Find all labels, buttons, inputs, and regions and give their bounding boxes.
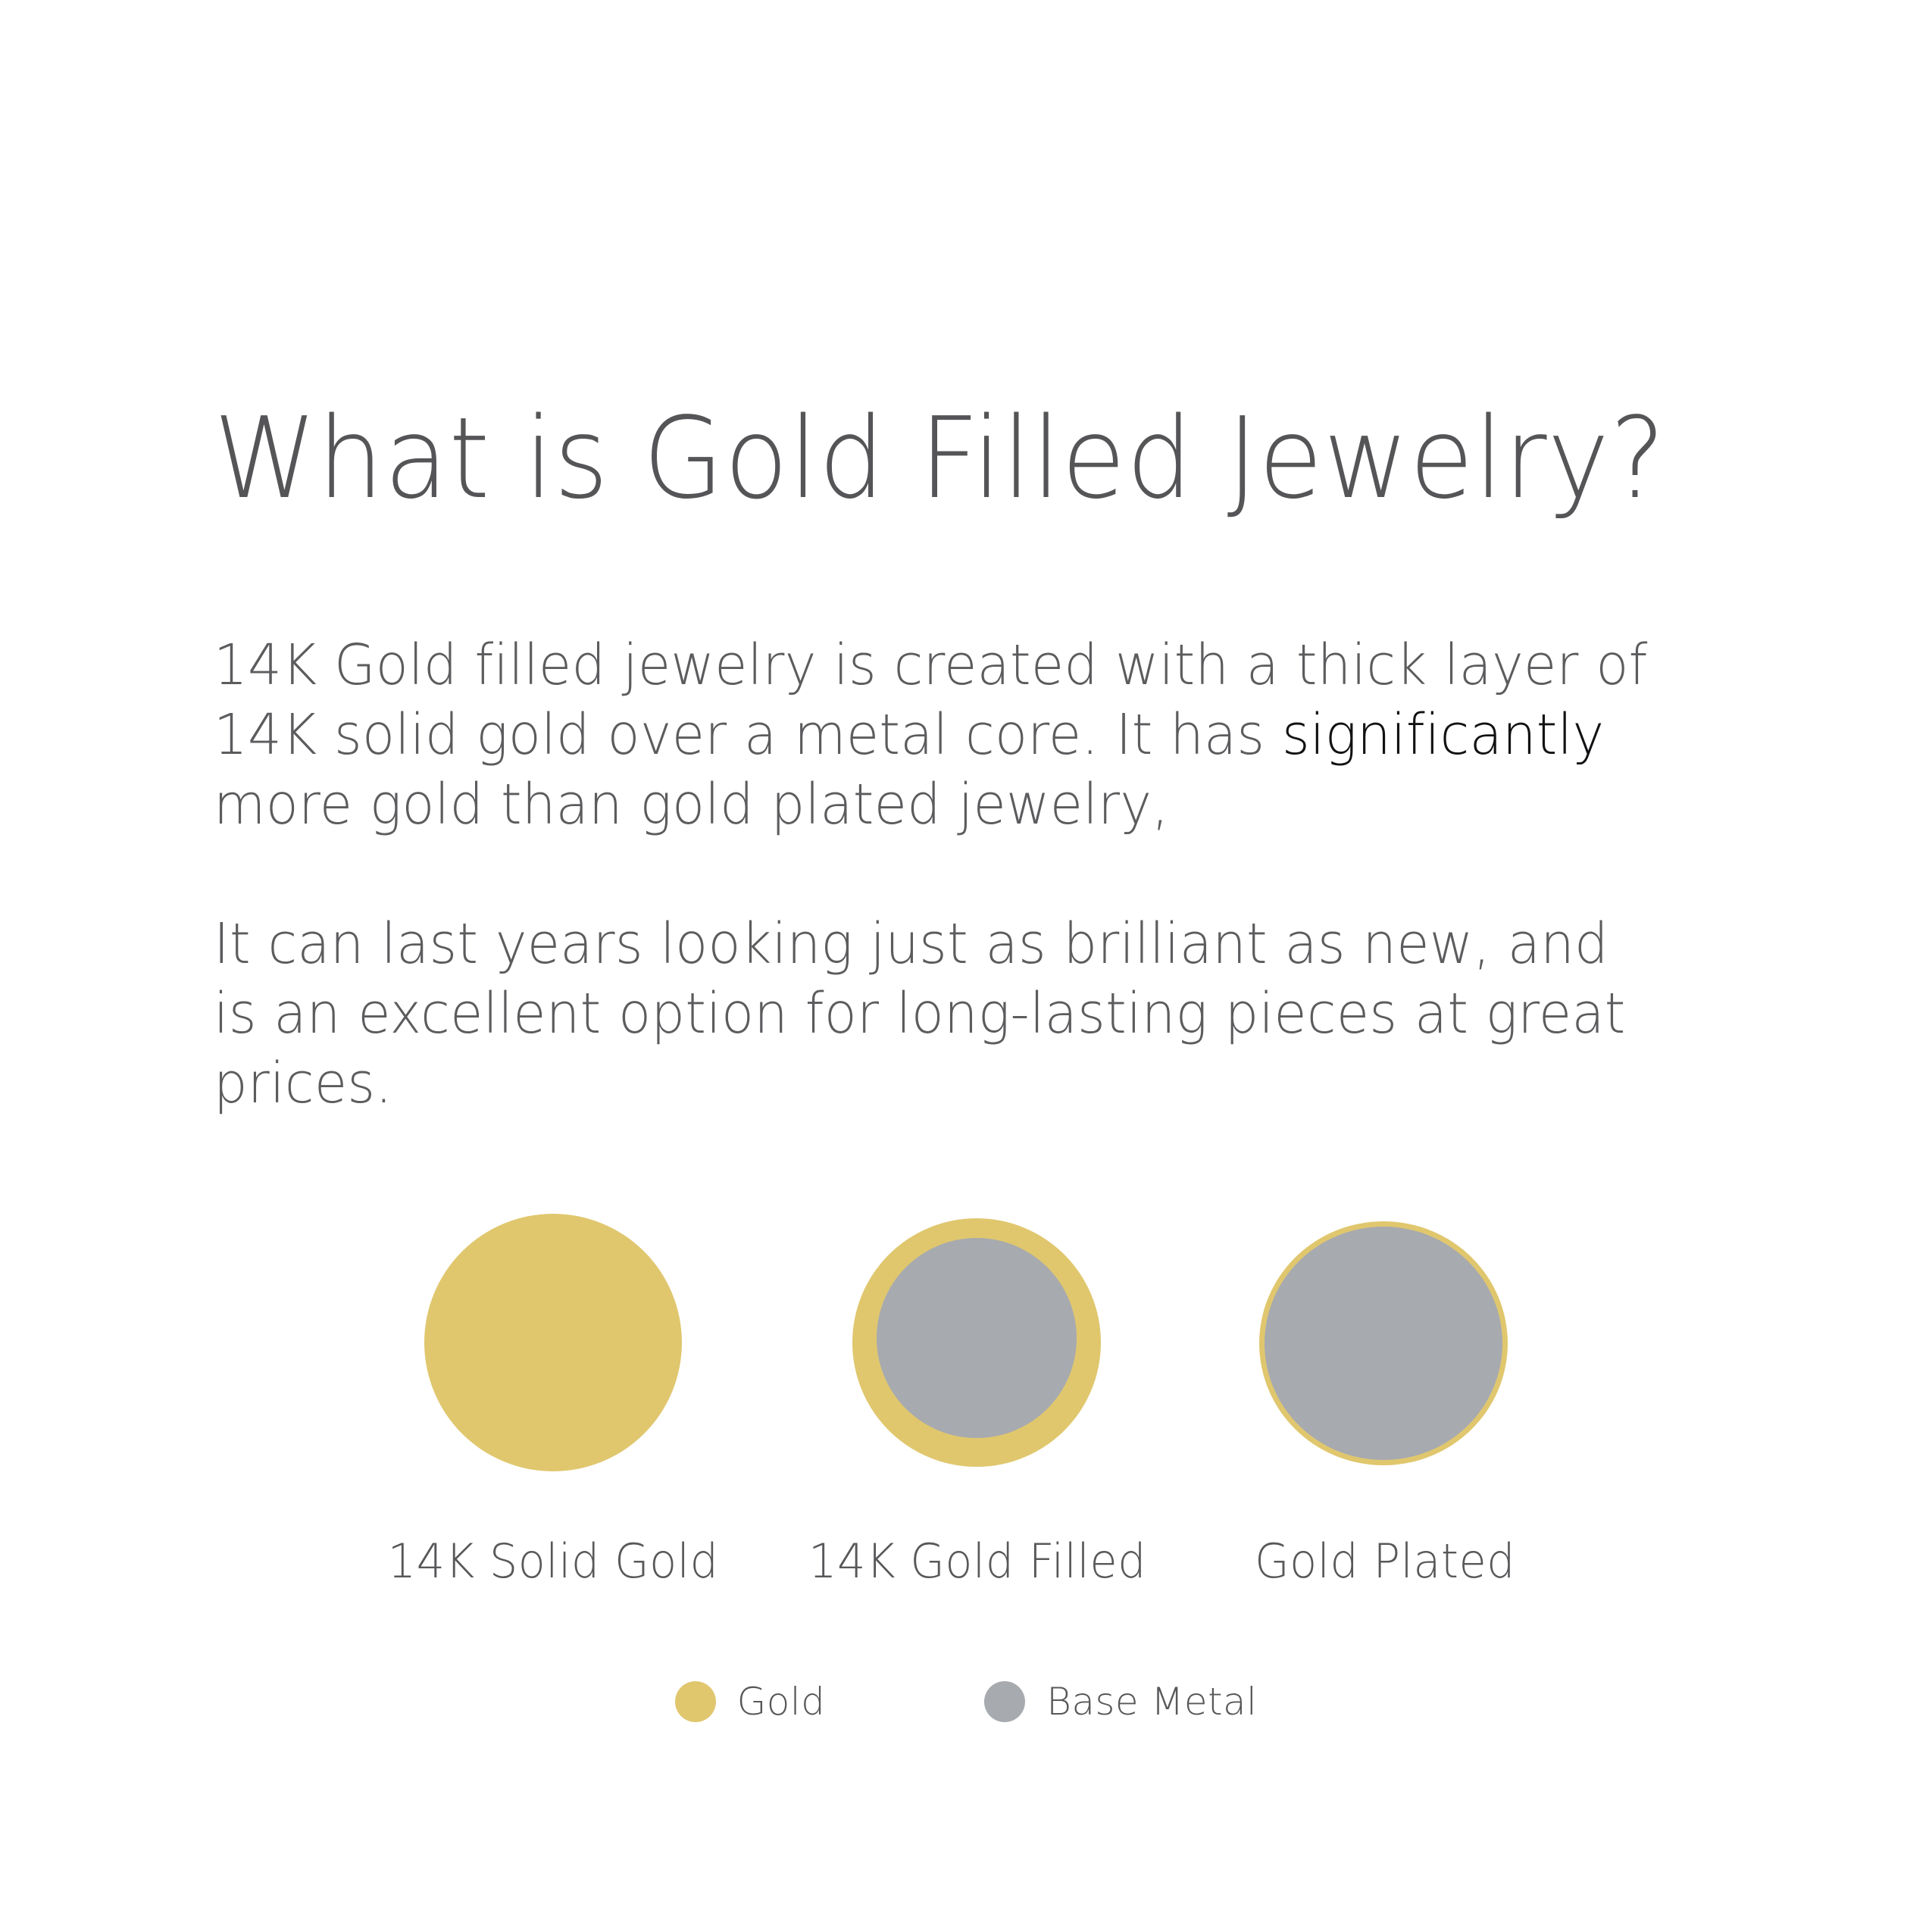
swatch-caption-14k-gold-filled: 14K Gold Filled <box>755 1532 1201 1591</box>
legend-label-gold: Gold <box>737 1680 826 1723</box>
legend-label-base-metal: Base Metal <box>1046 1680 1257 1723</box>
swatch-14k-solid-gold <box>424 1214 682 1471</box>
legend-dot-base-metal-icon <box>984 1681 1025 1722</box>
swatch-caption-14k-solid-gold: 14K Solid Gold <box>330 1532 777 1591</box>
swatch-captions: 14K Solid Gold 14K Gold Filled Gold Plat… <box>0 1532 1932 1615</box>
paragraph-1-text-after: more gold than gold plated jewelry, <box>214 772 1169 837</box>
gold-comparison-diagram <box>0 1209 1932 1482</box>
page-canvas: What is Gold Filled Jewelry? 14K Gold fi… <box>0 0 1932 1932</box>
body-copy: 14K Gold filled jewelry is created with … <box>214 630 1668 1118</box>
legend: Gold Base Metal <box>0 1680 1932 1723</box>
legend-dot-gold-icon <box>675 1681 716 1722</box>
legend-item-gold: Gold <box>675 1680 826 1723</box>
paragraph-1-emphasis: significantly <box>1282 702 1604 767</box>
legend-item-base-metal: Base Metal <box>984 1680 1257 1723</box>
swatch-14k-gold-filled-core <box>877 1238 1077 1438</box>
paragraph-1: 14K Gold filled jewelry is created with … <box>214 630 1668 839</box>
swatch-caption-gold-plated: Gold Plated <box>1162 1532 1608 1591</box>
swatch-gold-plated <box>1259 1221 1508 1465</box>
page-title: What is Gold Filled Jewelry? <box>214 402 1666 514</box>
swatch-14k-gold-filled <box>852 1218 1101 1467</box>
paragraph-2: It can last years looking just as brilli… <box>214 909 1668 1118</box>
